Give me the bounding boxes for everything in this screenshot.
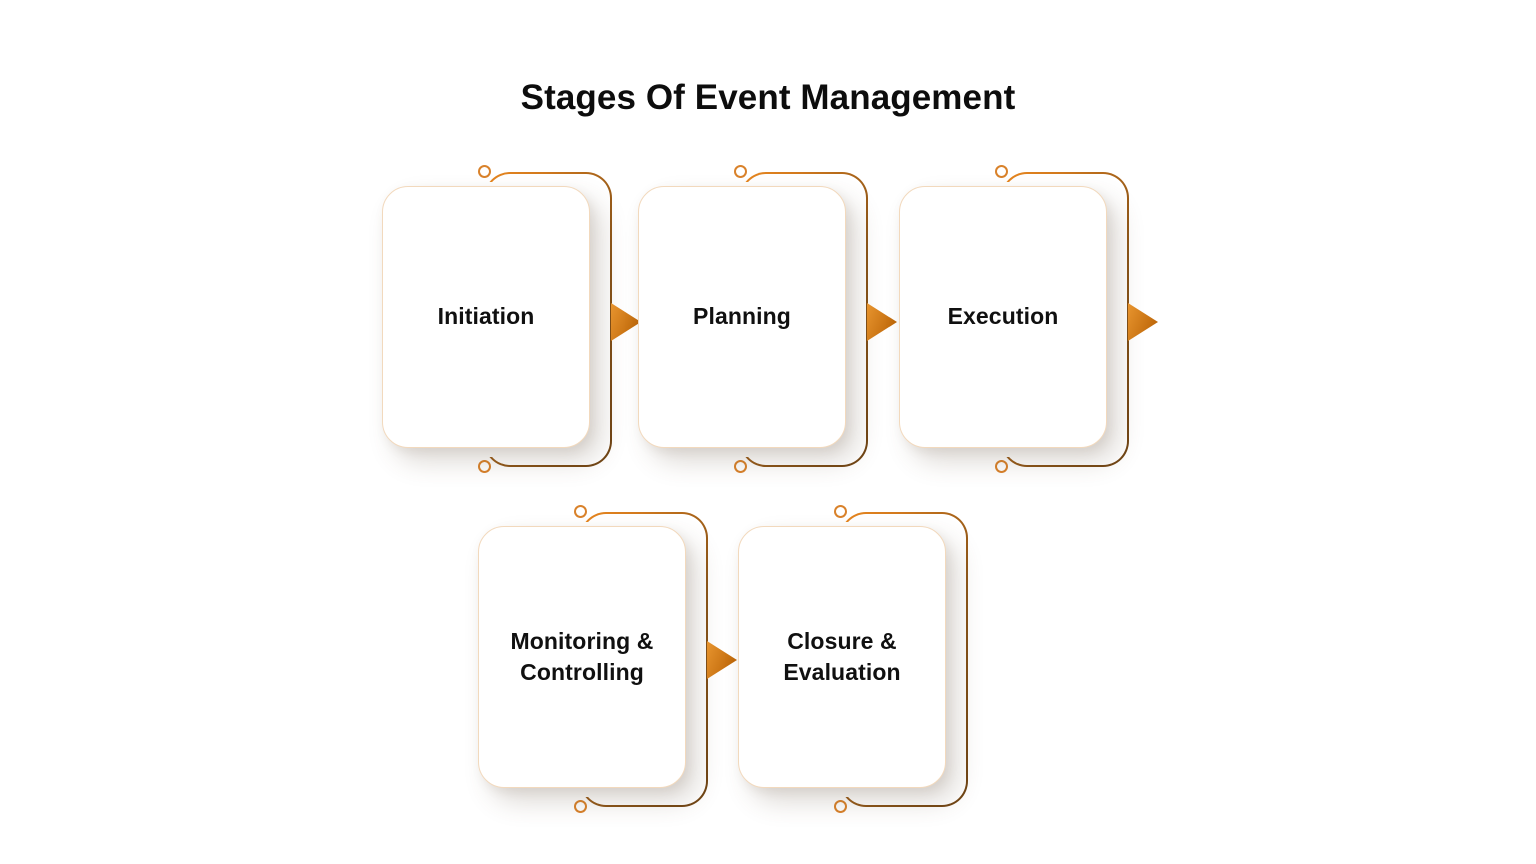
- lead-ring-top: [834, 505, 847, 518]
- stage-card[interactable]: Initiation: [382, 186, 590, 448]
- page-title: Stages Of Event Management: [0, 78, 1536, 118]
- lead-ring-bottom: [734, 460, 747, 473]
- lead-ring-bottom: [574, 800, 587, 813]
- lead-ring-top: [478, 165, 491, 178]
- flow-arrow-1-to-2: [611, 303, 641, 341]
- stage-card[interactable]: Execution: [899, 186, 1107, 448]
- lead-ring-top: [995, 165, 1008, 178]
- stage-label: Monitoring & Controlling: [501, 626, 664, 689]
- stage-label: Closure & Evaluation: [773, 626, 910, 689]
- flow-arrow-3-to-4: [1128, 303, 1158, 341]
- lead-ring-bottom: [478, 460, 491, 473]
- stage-label: Execution: [938, 301, 1069, 332]
- stage-card[interactable]: Closure & Evaluation: [738, 526, 946, 788]
- lead-ring-bottom: [834, 800, 847, 813]
- stage-label: Initiation: [428, 301, 545, 332]
- lead-ring-top: [734, 165, 747, 178]
- stage-card[interactable]: Planning: [638, 186, 846, 448]
- stage-label: Planning: [683, 301, 801, 332]
- stage-card[interactable]: Monitoring & Controlling: [478, 526, 686, 788]
- diagram-canvas: Stages Of Event Management Initiation Pl…: [0, 0, 1536, 864]
- flow-arrow-4-to-5: [707, 641, 737, 679]
- lead-ring-top: [574, 505, 587, 518]
- lead-ring-bottom: [995, 460, 1008, 473]
- flow-arrow-2-to-3: [867, 303, 897, 341]
